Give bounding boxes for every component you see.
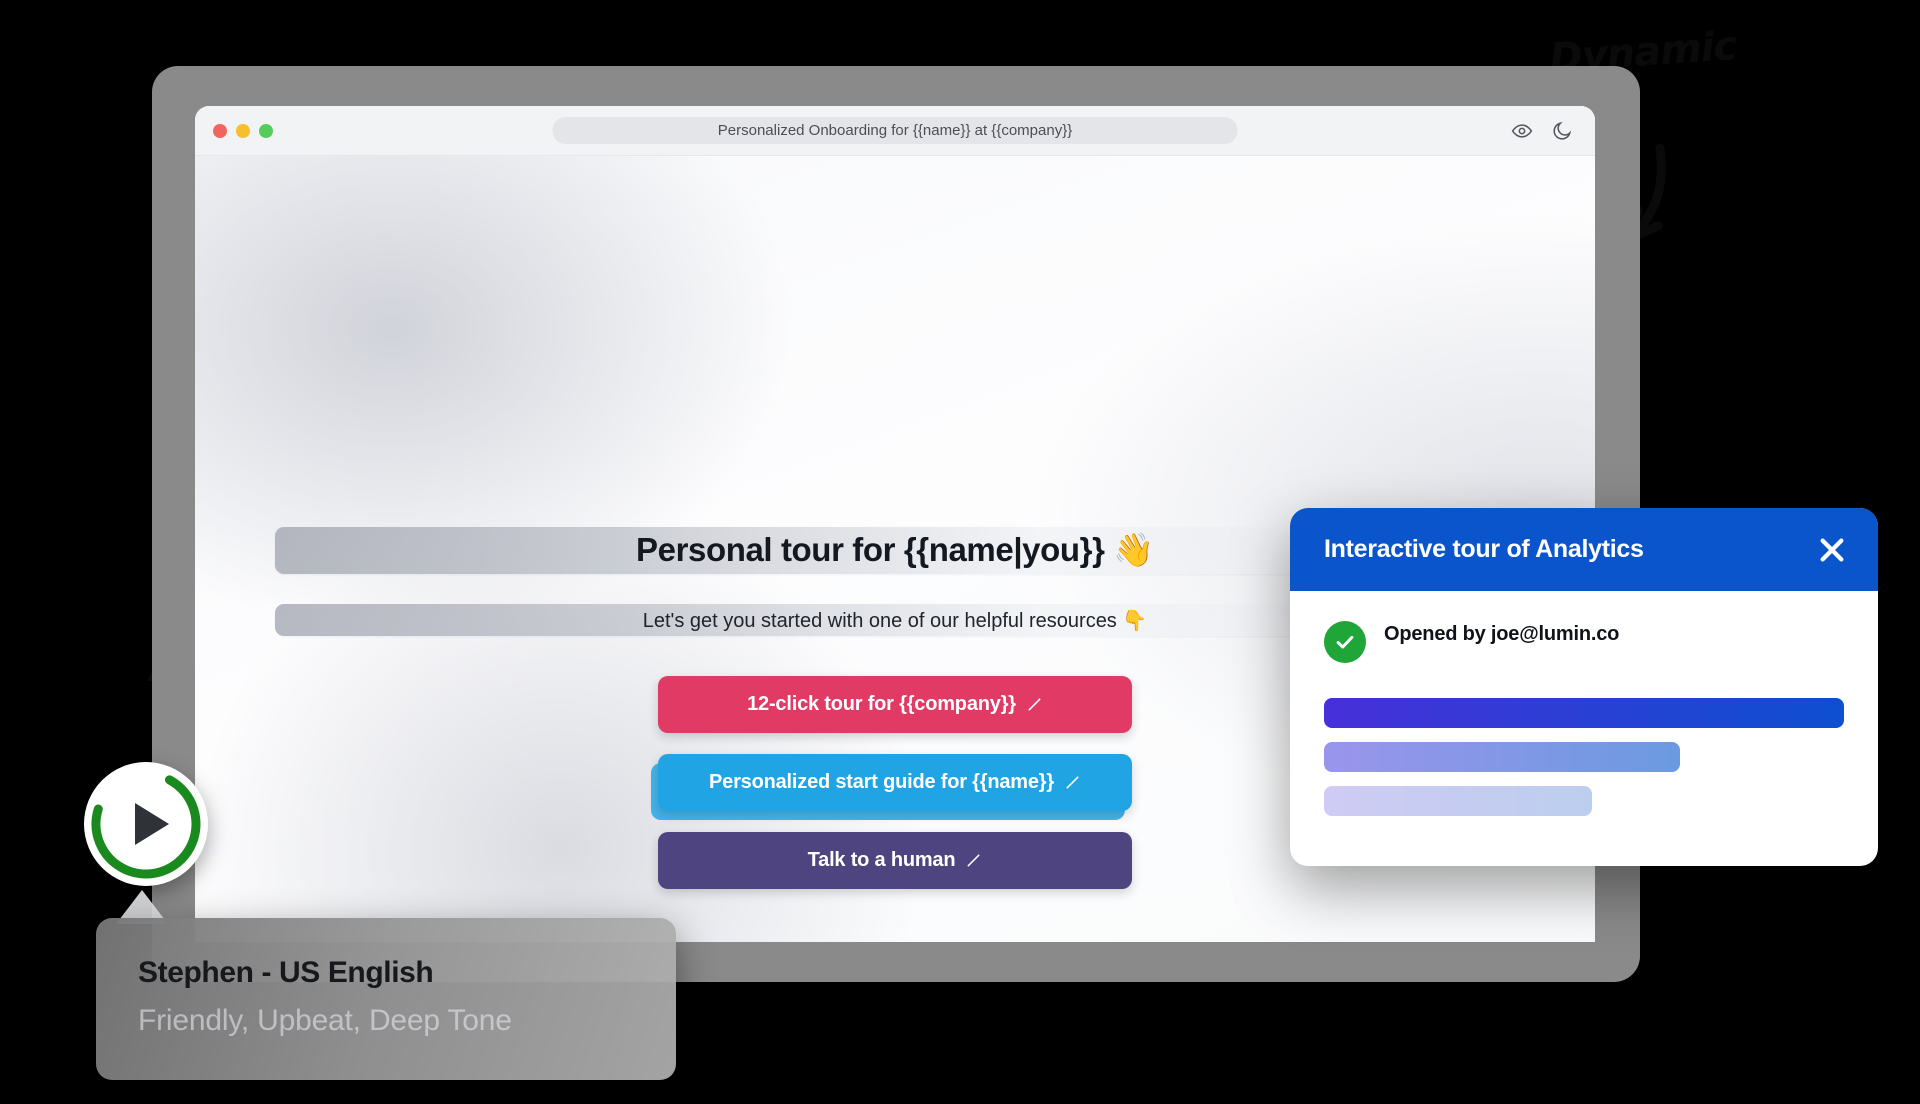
dark-mode-moon-icon[interactable] (1551, 120, 1573, 142)
window-close-button[interactable] (213, 124, 227, 138)
pencil-icon[interactable] (1064, 774, 1081, 791)
preview-eye-icon[interactable] (1511, 120, 1533, 142)
cta-12-click-tour-button[interactable]: 12-click tour for {{company}} (658, 676, 1132, 733)
cta-button-stack: 12-click tour for {{company}} Personaliz… (658, 676, 1132, 889)
url-bar[interactable]: Personalized Onboarding for {{name}} at … (553, 117, 1238, 144)
cta-start-guide-wrapper: Personalized start guide for {{name}} (658, 754, 1132, 811)
check-circle-icon (1324, 621, 1366, 663)
analytics-bar-chart (1324, 698, 1844, 816)
pencil-icon[interactable] (1026, 696, 1043, 713)
analytics-popup-title: Interactive tour of Analytics (1324, 535, 1644, 564)
cta-talk-to-human-label: Talk to a human (808, 849, 956, 872)
window-minimize-button[interactable] (236, 124, 250, 138)
cta-start-guide-button[interactable]: Personalized start guide for {{name}} (658, 754, 1132, 811)
analytics-status-row: Opened by joe@lumin.co (1324, 621, 1844, 663)
browser-title-bar: Personalized Onboarding for {{name}} at … (195, 106, 1595, 156)
page-subheadline: Let's get you started with one of our he… (643, 608, 1148, 633)
page-headline: Personal tour for {{name|you}} 👋 (636, 531, 1154, 570)
play-icon (135, 803, 169, 845)
url-bar-title: Personalized Onboarding for {{name}} at … (718, 122, 1072, 139)
voice-name-label: Stephen - US English (138, 956, 676, 990)
analytics-popup: Interactive tour of Analytics Opened by … (1290, 508, 1878, 866)
pencil-icon[interactable] (965, 852, 982, 869)
cta-start-guide-label: Personalized start guide for {{name}} (709, 771, 1054, 794)
analytics-bar-1 (1324, 698, 1844, 728)
close-x-icon[interactable] (1816, 534, 1848, 566)
analytics-bar-3 (1324, 786, 1592, 816)
cta-talk-to-human-button[interactable]: Talk to a human (658, 832, 1132, 889)
title-bar-actions (1511, 120, 1573, 142)
analytics-popup-header: Interactive tour of Analytics (1290, 508, 1878, 591)
cta-12-click-tour-label: 12-click tour for {{company}} (747, 693, 1016, 716)
analytics-opened-by-label: Opened by joe@lumin.co (1384, 623, 1619, 645)
voice-info-card: Stephen - US English Friendly, Upbeat, D… (96, 918, 676, 1080)
analytics-popup-body: Opened by joe@lumin.co (1290, 591, 1878, 816)
analytics-status-texts: Opened by joe@lumin.co (1384, 621, 1844, 646)
voice-play-button[interactable] (84, 762, 208, 886)
voice-tone-label: Friendly, Upbeat, Deep Tone (138, 1004, 676, 1038)
window-maximize-button[interactable] (259, 124, 273, 138)
analytics-bar-2 (1324, 742, 1680, 772)
screenshot-stage: Dynamic AI Personalized Onboarding for {… (0, 0, 1920, 1104)
window-traffic-lights (213, 124, 273, 138)
